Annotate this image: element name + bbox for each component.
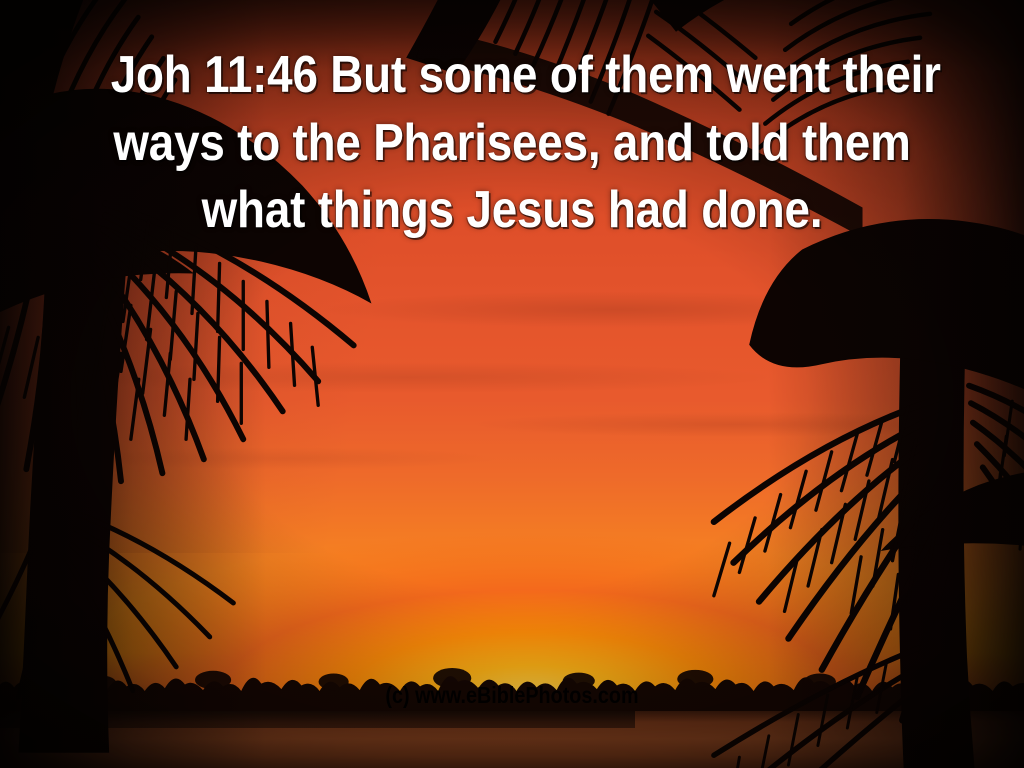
palm-tree-left <box>0 0 440 753</box>
palm-tree-right <box>655 230 1024 768</box>
scripture-photo: Joh 11:46 But some of them went their wa… <box>0 0 1024 768</box>
